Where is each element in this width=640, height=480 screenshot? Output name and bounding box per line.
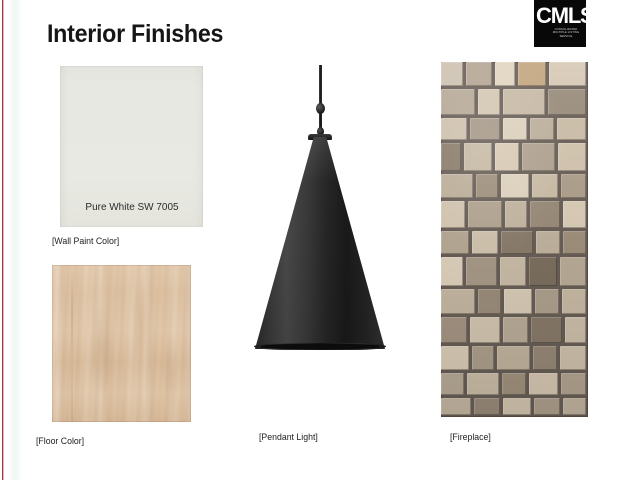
stone-brick: [470, 118, 500, 140]
stone-brick: [441, 201, 465, 228]
pendant-joint: [316, 103, 325, 114]
stone-brick: [464, 143, 492, 171]
slide-canvas: Interior Finishes CMLS CONSOLIDATED MULT…: [0, 0, 640, 480]
stone-brick: [441, 257, 463, 286]
stone-brick: [441, 62, 463, 86]
stone-grid: [441, 62, 588, 417]
stone-brick: [563, 231, 586, 254]
stone-brick: [468, 201, 502, 228]
logo-wordmark: CMLS: [536, 4, 584, 27]
stone-brick: [501, 174, 529, 198]
stone-brick: [533, 346, 557, 370]
logo-tagline: CONSOLIDATED MULTIPLE LISTING SERVICE: [548, 28, 584, 38]
paper-margin-band: [8, 0, 24, 480]
stone-brick: [441, 289, 475, 314]
stone-brick: [497, 346, 530, 370]
stone-brick: [560, 346, 586, 370]
stone-brick: [532, 174, 558, 198]
stone-brick: [503, 398, 531, 415]
stone-brick: [495, 62, 515, 86]
stone-brick: [563, 201, 586, 228]
fireplace-stone-photo: [441, 62, 588, 417]
stone-brick: [500, 257, 526, 286]
wall-paint-swatch: Pure White SW 7005: [60, 66, 203, 227]
caption-pendant-light: [Pendant Light]: [259, 432, 318, 444]
caption-fireplace: [Fireplace]: [450, 432, 491, 444]
stone-brick: [565, 317, 586, 343]
stone-brick: [535, 289, 559, 314]
stone-brick: [501, 231, 533, 254]
stone-brick: [503, 317, 528, 343]
stone-brick: [467, 373, 499, 395]
pendant-light-photo: [240, 58, 400, 358]
page-title: Interior Finishes: [47, 19, 223, 49]
stone-brick: [530, 118, 554, 140]
stone-brick: [529, 373, 558, 395]
left-edge-rule-secondary: [3, 0, 4, 480]
stone-brick: [518, 62, 546, 86]
stone-brick: [441, 174, 473, 198]
stone-brick: [562, 289, 586, 314]
stone-brick: [476, 174, 498, 198]
stone-brick: [531, 317, 562, 343]
stone-brick: [466, 62, 492, 86]
stone-brick: [560, 257, 586, 286]
caption-floor-color: [Floor Color]: [36, 436, 84, 448]
stone-brick: [549, 62, 586, 86]
stone-brick: [534, 398, 560, 415]
pendant-shade-interior: [260, 344, 380, 349]
stone-brick: [441, 118, 467, 140]
stone-brick: [563, 398, 586, 415]
stone-brick: [474, 398, 500, 415]
stone-brick: [503, 118, 527, 140]
stone-brick: [548, 89, 586, 115]
stone-brick: [495, 143, 519, 171]
stone-brick: [478, 89, 500, 115]
stone-brick: [561, 373, 586, 395]
stone-brick: [466, 257, 497, 286]
stone-brick: [478, 289, 501, 314]
stone-brick: [530, 201, 560, 228]
stone-brick: [558, 143, 586, 171]
floor-color-swatch: [52, 265, 191, 422]
stone-brick: [504, 289, 532, 314]
stone-brick: [441, 346, 469, 370]
caption-wall-paint: [Wall Paint Color]: [52, 236, 119, 248]
stone-brick: [472, 231, 498, 254]
stone-brick: [522, 143, 555, 171]
stone-brick: [557, 118, 586, 140]
stone-brick: [441, 317, 467, 343]
pendant-shade-shadow: [255, 137, 385, 349]
stone-brick: [561, 174, 586, 198]
stone-brick: [536, 231, 560, 254]
stone-brick: [441, 143, 461, 171]
cmls-logo: CMLS CONSOLIDATED MULTIPLE LISTING SERVI…: [534, 0, 640, 48]
stone-brick: [502, 373, 526, 395]
stone-brick: [441, 373, 464, 395]
stone-brick: [503, 89, 545, 115]
stone-brick: [529, 257, 557, 286]
stone-brick: [472, 346, 494, 370]
stone-brick: [441, 231, 469, 254]
stone-brick: [441, 89, 475, 115]
stone-brick: [470, 317, 500, 343]
stone-brick: [441, 398, 471, 415]
stone-brick: [505, 201, 527, 228]
paint-color-name: Pure White SW 7005: [71, 201, 193, 214]
